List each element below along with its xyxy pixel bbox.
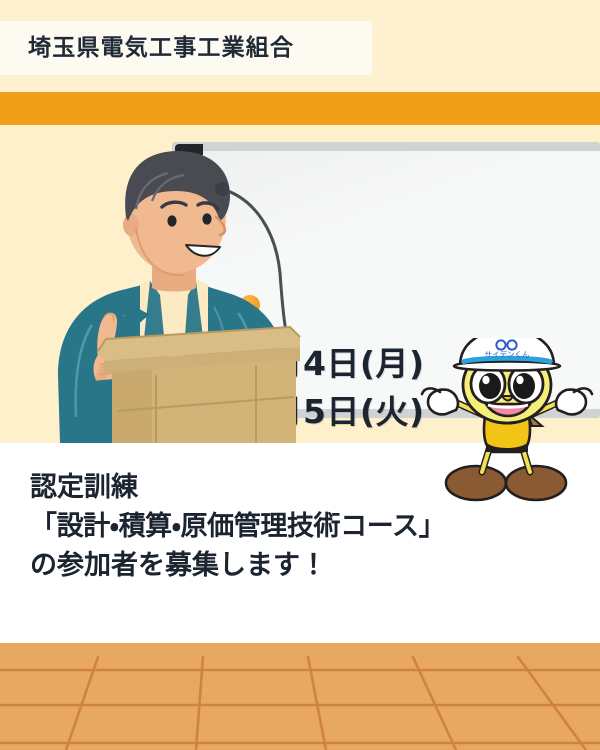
speaker-eye-right (202, 213, 211, 224)
poster-root: 埼玉県電気工事工業組合 8月4日(月) 8月5日(火) 開催！ (0, 0, 600, 750)
organization-name: 埼玉県電気工事工業組合 (28, 33, 368, 63)
orange-divider-bar (0, 92, 600, 125)
mascot-glove-left (422, 388, 458, 414)
announcement-line-2: 「設計・積算・原価管理技術コース」 (30, 507, 590, 546)
podium (98, 327, 300, 443)
floor (0, 643, 600, 750)
mascot-helmet-name: サイデンくん (485, 349, 530, 359)
mascot-eye-glint-left (482, 376, 489, 384)
announcement-line-3: の参加者を募集します！ (30, 546, 590, 585)
mascot-pupil-left (479, 373, 501, 399)
speaker-eye-left (167, 215, 176, 226)
podium-body-left (112, 369, 152, 443)
announcement-text: 認定訓練 「設計・積算・原価管理技術コース」 の参加者を募集します！ (30, 468, 590, 585)
announcement-line-1: 認定訓練 (30, 468, 590, 507)
mascot-pupil-right (513, 373, 535, 399)
mascot-eye-glint-right (516, 376, 523, 384)
mascot-glove-right (556, 388, 592, 414)
microphone-head (215, 182, 229, 196)
floor-tiles (0, 643, 600, 750)
